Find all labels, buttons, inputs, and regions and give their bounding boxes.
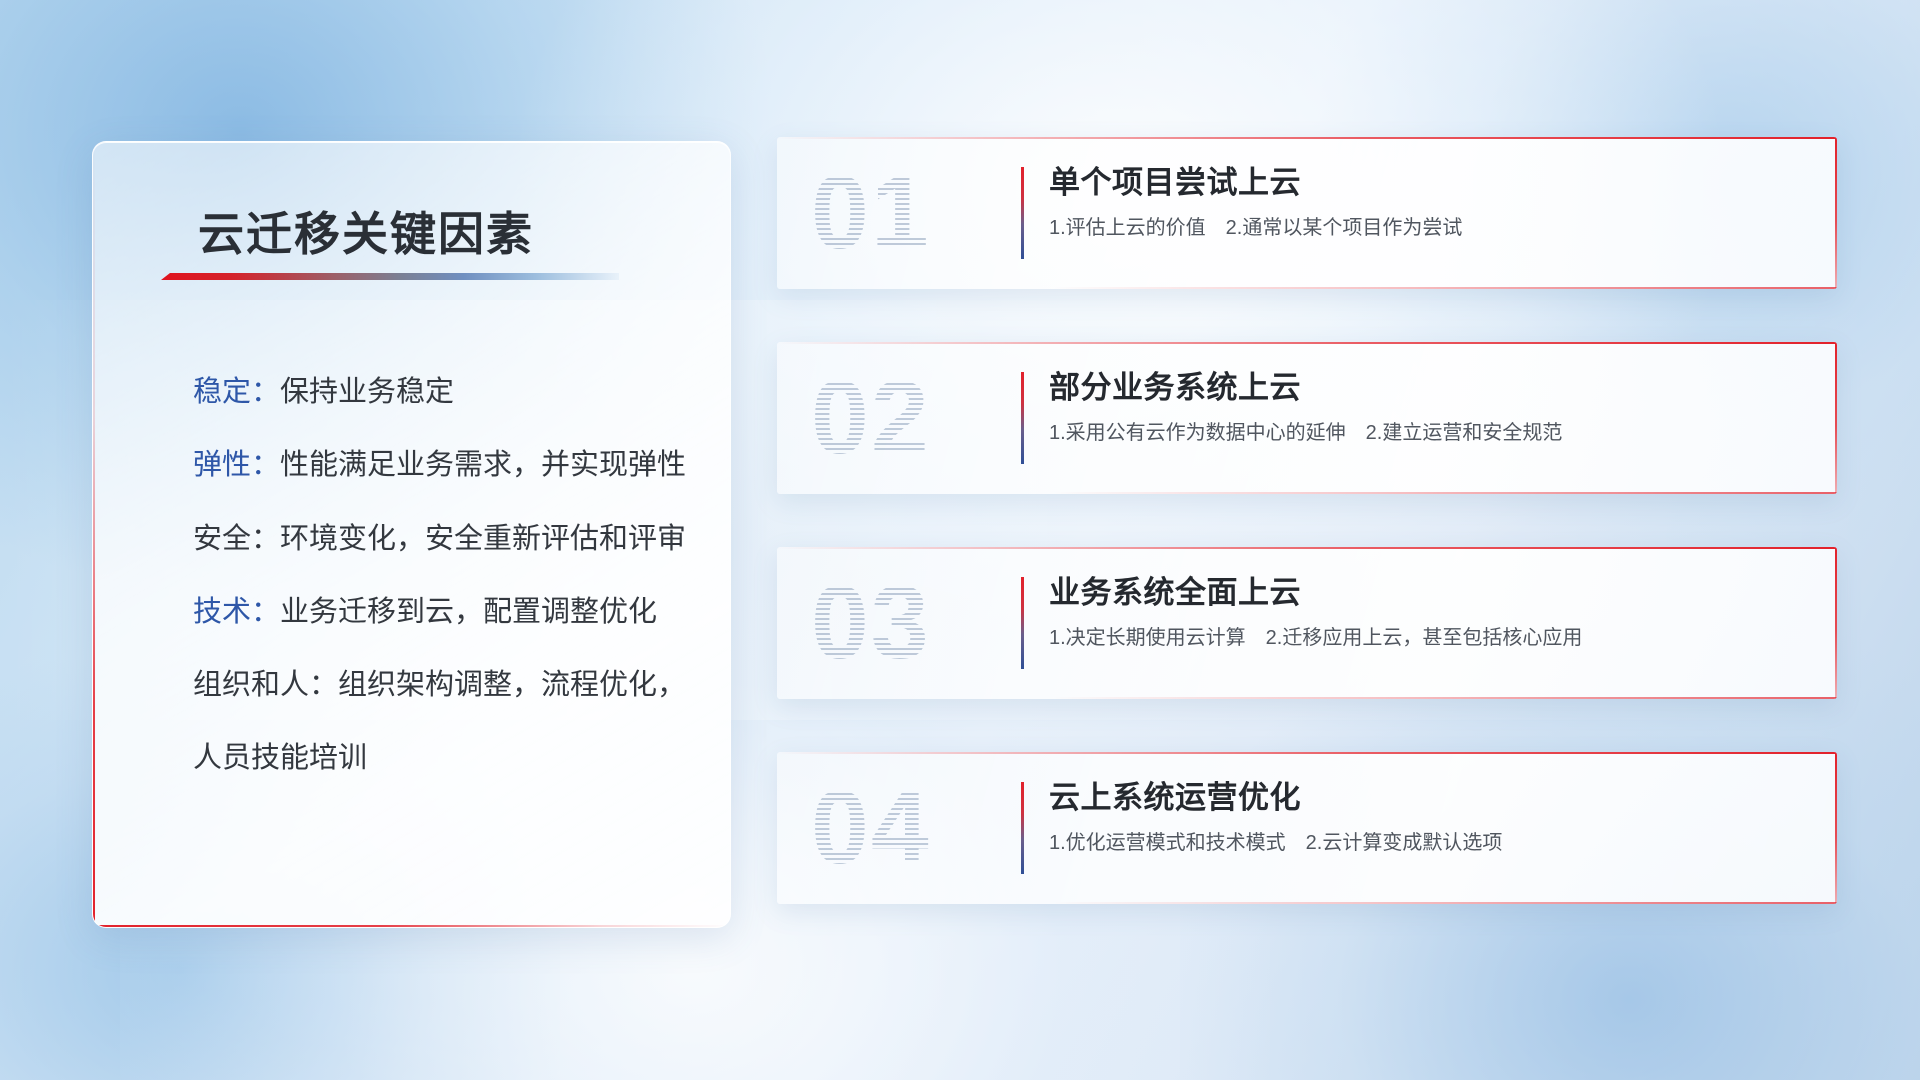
stage-number-watermark: 01 bbox=[811, 153, 1011, 273]
stage-description: 1.优化运营模式和技术模式 2.云计算变成默认选项 bbox=[1049, 830, 1797, 856]
card-bottom-accent-line bbox=[1053, 902, 1837, 904]
key-factors-panel: 云迁移关键因素 稳定：保持业务稳定 弹性：性能满足业务需求，并实现弹性 安全：环… bbox=[92, 141, 731, 928]
stage-divider-bar bbox=[1021, 577, 1024, 669]
stage-title: 业务系统全面上云 bbox=[1049, 574, 1797, 612]
card-bottom-accent-line bbox=[1053, 697, 1837, 699]
factor-value: 业务迁移到云，配置调整优化 bbox=[280, 596, 657, 628]
card-bottom-accent-line bbox=[1053, 492, 1837, 494]
card-right-accent-line bbox=[1835, 547, 1837, 699]
factor-item-stability: 稳定：保持业务稳定 bbox=[193, 374, 700, 410]
stage-text-block: 单个项目尝试上云 1.评估上云的价值 2.通常以某个项目作为尝试 bbox=[1049, 164, 1797, 241]
stage-divider-bar bbox=[1021, 167, 1024, 259]
factor-label: 弹性： bbox=[193, 449, 280, 481]
stage-number-watermark: 02 bbox=[811, 358, 1011, 478]
stage-title: 云上系统运营优化 bbox=[1049, 779, 1797, 817]
stage-description: 1.决定长期使用云计算 2.迁移应用上云，甚至包括核心应用 bbox=[1049, 625, 1797, 651]
stage-card-02[interactable]: 02 部分业务系统上云 1.采用公有云作为数据中心的延伸 2.建立运营和安全规范 bbox=[777, 342, 1837, 494]
stage-card-03[interactable]: 03 业务系统全面上云 1.决定长期使用云计算 2.迁移应用上云，甚至包括核心应… bbox=[777, 547, 1837, 699]
stage-text-block: 业务系统全面上云 1.决定长期使用云计算 2.迁移应用上云，甚至包括核心应用 bbox=[1049, 574, 1797, 651]
factor-value: 组织架构调整，流程优化， bbox=[338, 669, 686, 701]
stage-description: 1.评估上云的价值 2.通常以某个项目作为尝试 bbox=[1049, 215, 1797, 241]
stage-title: 部分业务系统上云 bbox=[1049, 369, 1797, 407]
factor-item-security: 安全：环境变化，安全重新评估和评审 bbox=[193, 521, 700, 557]
migration-stages-list: 01 单个项目尝试上云 1.评估上云的价值 2.通常以某个项目作为尝试 02 部… bbox=[777, 137, 1837, 904]
stage-number-watermark: 03 bbox=[811, 563, 1011, 683]
card-right-accent-line bbox=[1835, 342, 1837, 494]
card-top-accent-line bbox=[777, 752, 1837, 754]
factor-item-technology: 技术：业务迁移到云，配置调整优化 bbox=[193, 594, 700, 630]
factor-value-continuation: 人员技能培训 bbox=[193, 740, 700, 776]
stage-card-04[interactable]: 04 云上系统运营优化 1.优化运营模式和技术模式 2.云计算变成默认选项 bbox=[777, 752, 1837, 904]
stage-text-block: 云上系统运营优化 1.优化运营模式和技术模式 2.云计算变成默认选项 bbox=[1049, 779, 1797, 856]
factor-label: 稳定： bbox=[193, 376, 280, 408]
factor-value: 环境变化，安全重新评估和评审 bbox=[280, 523, 686, 555]
stage-divider-bar bbox=[1021, 782, 1024, 874]
factor-label: 组织和人： bbox=[193, 669, 338, 701]
panel-left-accent-edge bbox=[93, 142, 95, 927]
factor-label: 安全： bbox=[193, 523, 280, 555]
stage-divider-bar bbox=[1021, 372, 1024, 464]
stage-text-block: 部分业务系统上云 1.采用公有云作为数据中心的延伸 2.建立运营和安全规范 bbox=[1049, 369, 1797, 446]
card-top-accent-line bbox=[777, 547, 1837, 549]
stage-title: 单个项目尝试上云 bbox=[1049, 164, 1797, 202]
card-top-accent-line bbox=[777, 342, 1837, 344]
factor-value: 性能满足业务需求，并实现弹性 bbox=[280, 449, 686, 481]
panel-bottom-accent-edge bbox=[93, 925, 730, 927]
factor-label: 技术： bbox=[193, 596, 280, 628]
key-factors-list: 稳定：保持业务稳定 弹性：性能满足业务需求，并实现弹性 安全：环境变化，安全重新… bbox=[193, 374, 700, 777]
stage-description: 1.采用公有云作为数据中心的延伸 2.建立运营和安全规范 bbox=[1049, 420, 1797, 446]
card-top-accent-line bbox=[777, 137, 1837, 139]
page-title: 云迁移关键因素 bbox=[198, 198, 534, 264]
card-right-accent-line bbox=[1835, 137, 1837, 289]
factor-item-elasticity: 弹性：性能满足业务需求，并实现弹性 bbox=[193, 447, 700, 483]
factor-value: 保持业务稳定 bbox=[280, 376, 454, 408]
card-right-accent-line bbox=[1835, 752, 1837, 904]
card-bottom-accent-line bbox=[1053, 287, 1837, 289]
title-underline-rule bbox=[161, 273, 619, 280]
slide-canvas: 云迁移关键因素 稳定：保持业务稳定 弹性：性能满足业务需求，并实现弹性 安全：环… bbox=[0, 0, 1920, 1080]
factor-item-organization: 组织和人：组织架构调整，流程优化， 人员技能培训 bbox=[193, 667, 700, 777]
stage-card-01[interactable]: 01 单个项目尝试上云 1.评估上云的价值 2.通常以某个项目作为尝试 bbox=[777, 137, 1837, 289]
stage-number-watermark: 04 bbox=[811, 768, 1011, 888]
